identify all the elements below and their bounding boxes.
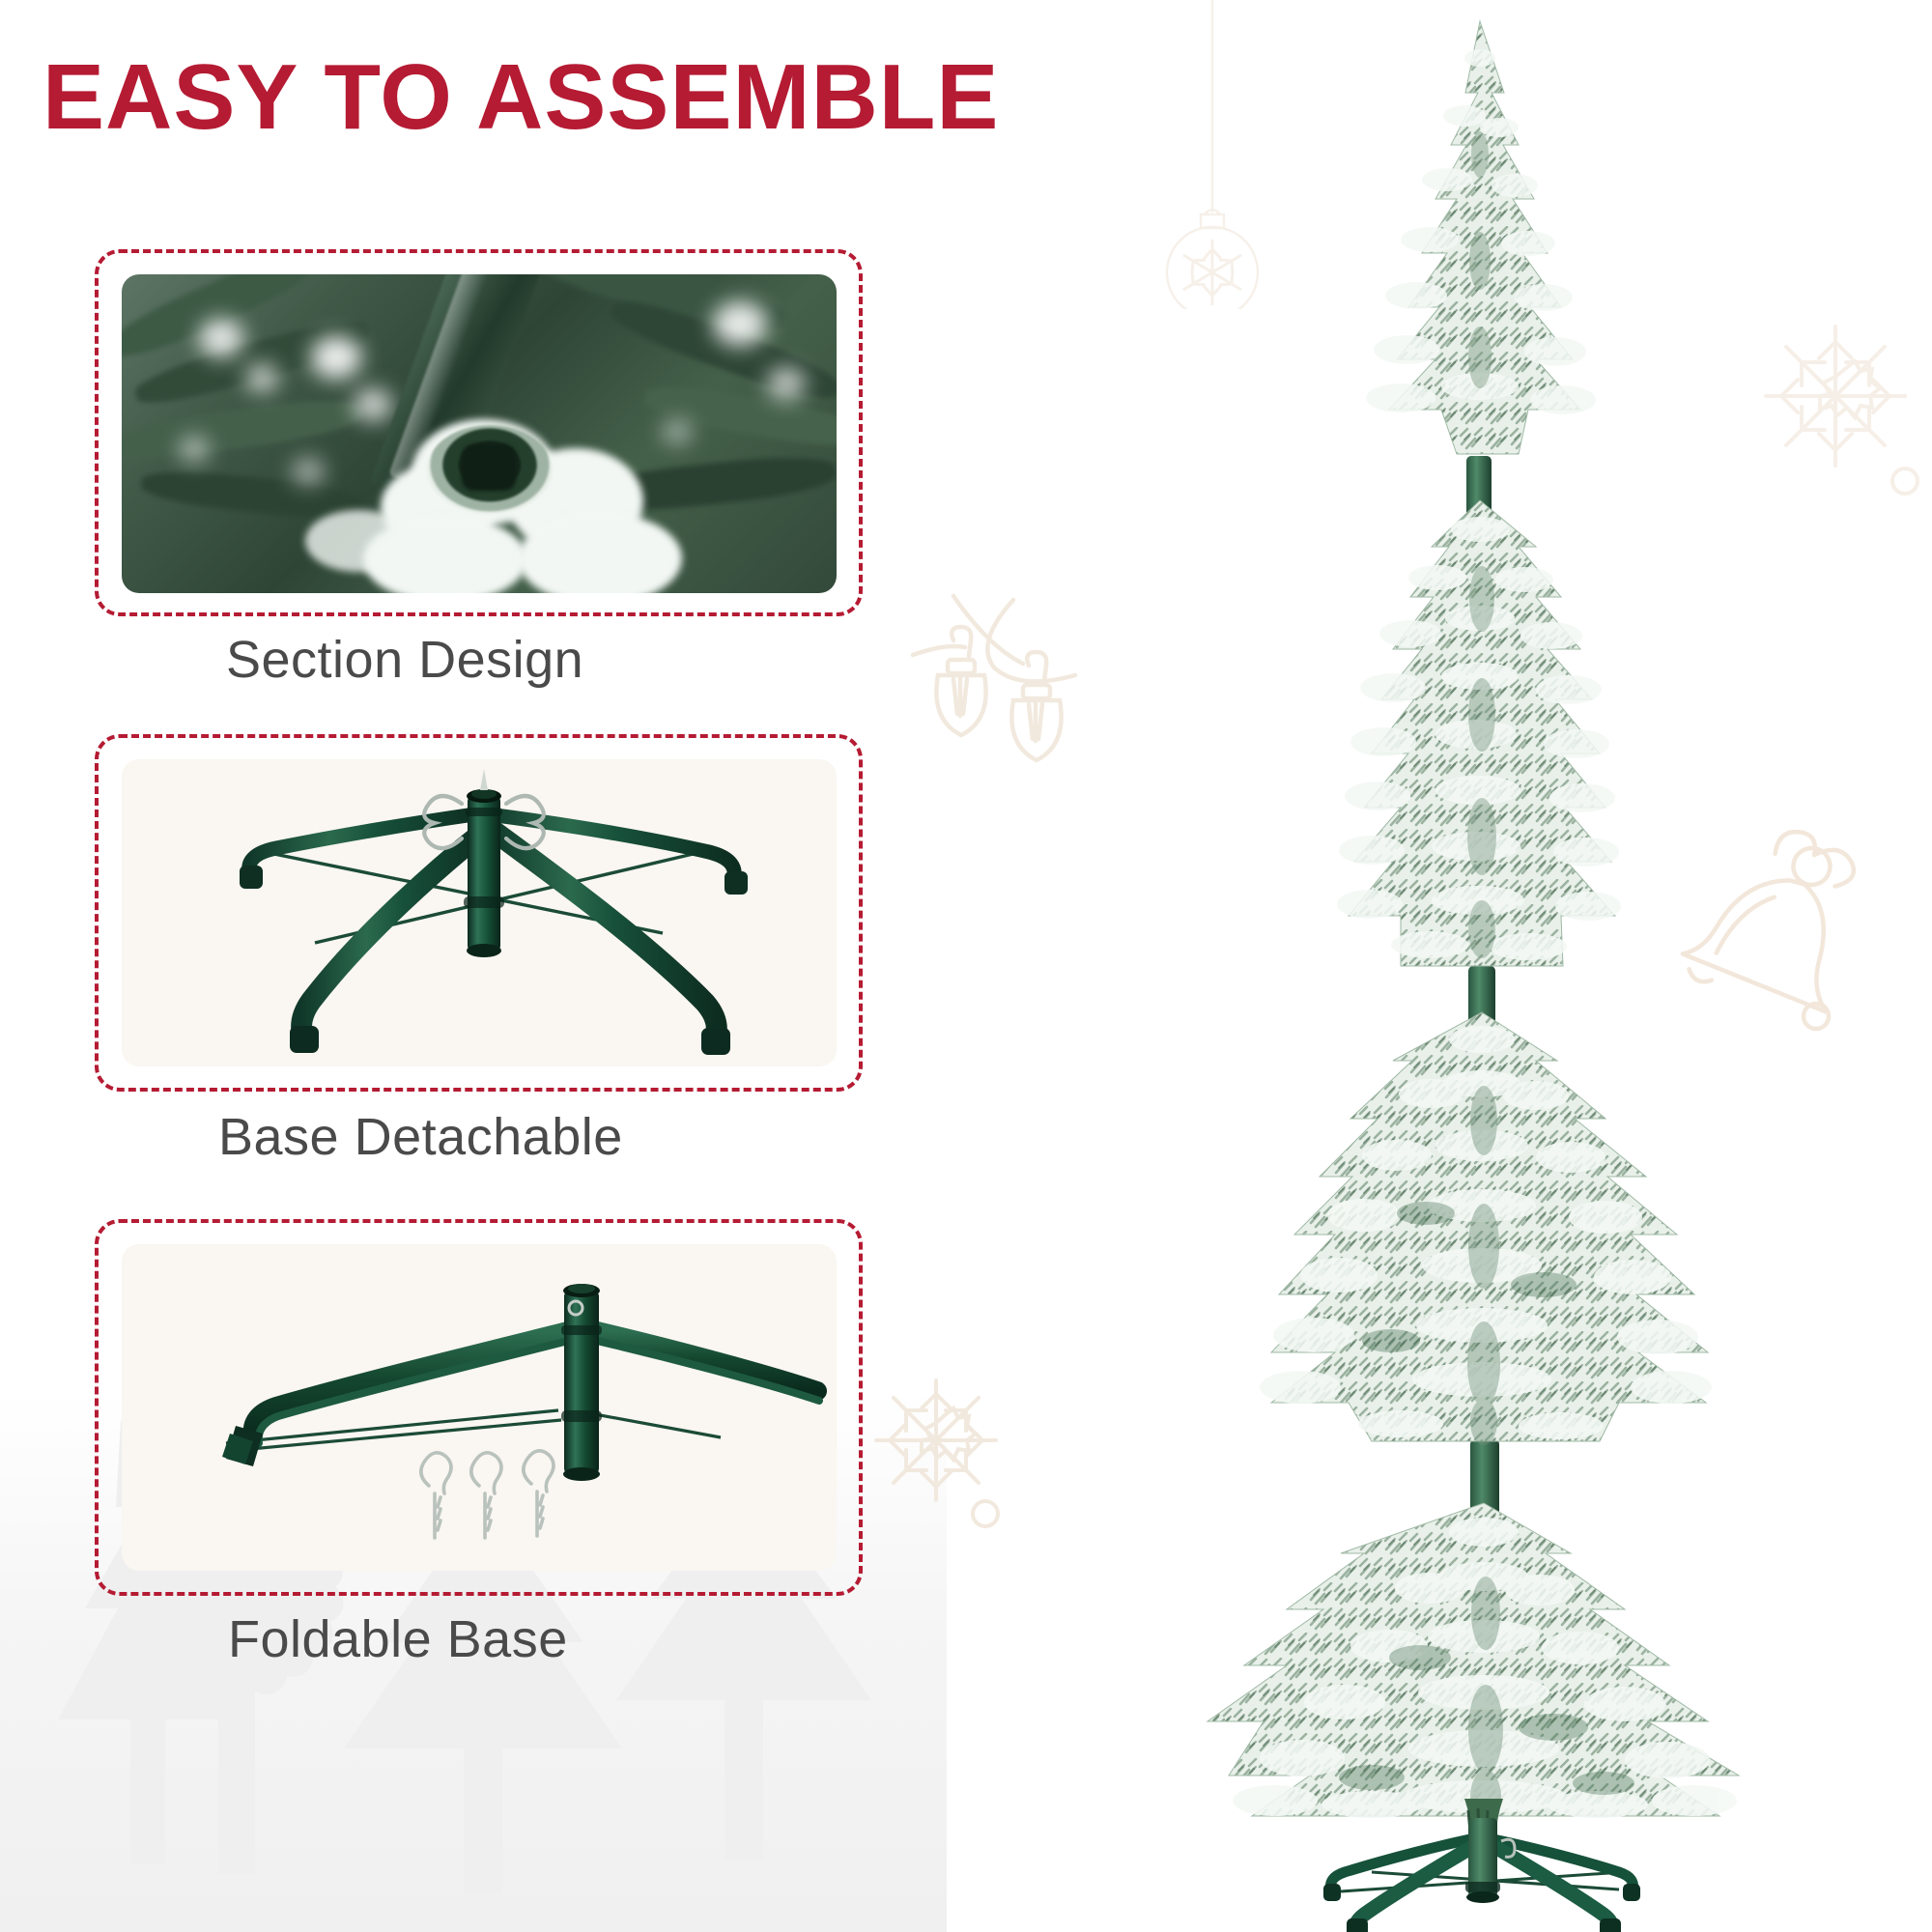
feature-image-base-detachable bbox=[122, 759, 837, 1066]
product-tree bbox=[1082, 0, 1932, 1932]
feature-card-base-detachable: Base Detachable bbox=[95, 734, 863, 1179]
wire-screws bbox=[421, 1451, 554, 1538]
feature-caption-section-design: Section Design bbox=[226, 630, 583, 690]
tree-section-top bbox=[1366, 21, 1596, 454]
tree-section-bottom bbox=[1207, 1503, 1739, 1853]
tree-stand bbox=[1323, 1818, 1640, 1932]
feature-card-foldable-base: Foldable Base bbox=[95, 1219, 863, 1663]
infographic-page: EASY TO ASSEMBLE bbox=[0, 0, 1932, 1932]
feature-image-foldable-base bbox=[122, 1244, 837, 1571]
page-title: EASY TO ASSEMBLE bbox=[43, 50, 999, 145]
tree-stand-folded-illustration bbox=[122, 1244, 837, 1571]
feature-image-section-design bbox=[122, 274, 837, 593]
feature-caption-foldable-base: Foldable Base bbox=[228, 1609, 568, 1669]
tree-section-upper bbox=[1337, 500, 1621, 966]
tree-section-lower bbox=[1260, 1012, 1712, 1445]
feature-card-section-design: Section Design bbox=[95, 249, 863, 694]
snowflake-icon bbox=[855, 1367, 1077, 1589]
tree-stand-open-illustration bbox=[122, 759, 837, 1066]
feature-caption-base-detachable: Base Detachable bbox=[218, 1107, 623, 1167]
